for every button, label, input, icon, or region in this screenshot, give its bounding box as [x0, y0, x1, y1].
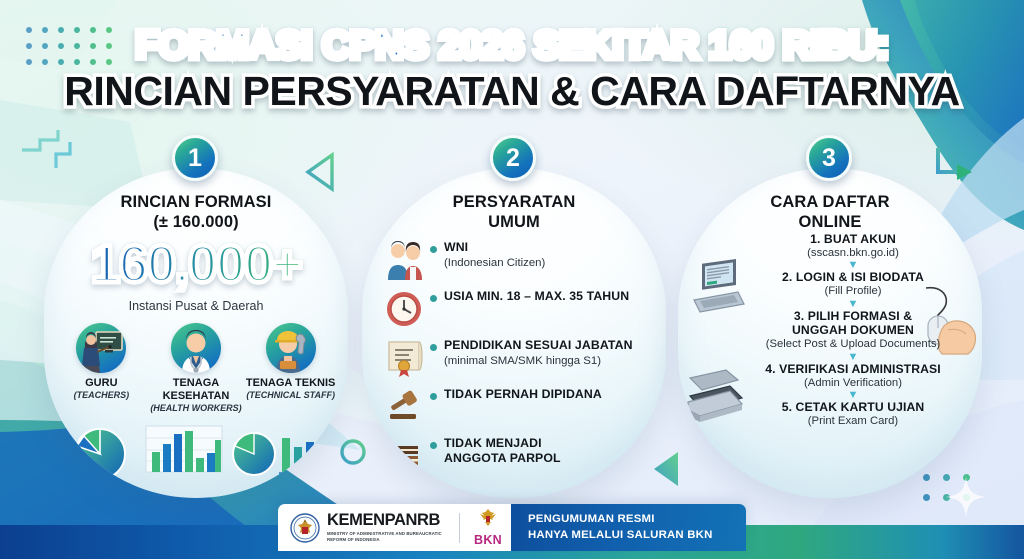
card-2-heading-line-1: PERSYARATAN — [362, 192, 666, 212]
arrow-down-icon: ▼ — [740, 391, 966, 399]
step-item: 3. PILIH FORMASI & UNGGAH DOKUMEN (Selec… — [740, 309, 966, 352]
role-name-kesehatan: TENAGA KESEHATAN — [150, 377, 242, 403]
role-name-guru: GURU — [55, 377, 147, 390]
headline-line-2: RINCIAN PERSYARATAN & CARA DAFTARNYA — [0, 70, 1024, 113]
bullet-dot — [430, 442, 437, 449]
clock-icon — [382, 289, 430, 327]
step-sub: (Admin Verification) — [740, 377, 966, 391]
requirement-item: USIA MIN. 18 – MAX. 35 TAHUN — [382, 289, 652, 327]
garuda-icon — [477, 508, 499, 528]
step-item: 1. BUAT AKUN (sscasn.bkn.go.id) — [740, 232, 966, 260]
bar-chart-icon — [146, 426, 222, 472]
requirement-text: TIDAK PERNAH DIPIDANA — [444, 387, 652, 402]
step-list: 1. BUAT AKUN (sscasn.bkn.go.id) ▼ 2. LOG… — [740, 232, 966, 429]
role-list: GURU (TEACHERS) — [54, 323, 338, 413]
ministry-block: KEMENPANRB MINISTRY OF ADMINISTRATIVE AN… — [327, 512, 445, 542]
technician-icon — [266, 323, 316, 373]
step-item: 5. CETAK KARTU UJIAN (Print Exam Card) — [740, 400, 966, 428]
step-item: 4. VERIFIKASI ADMINISTRASI (Admin Verifi… — [740, 362, 966, 390]
doctor-icon — [171, 323, 221, 373]
requirement-main: WNI — [444, 240, 652, 255]
requirement-sub: (minimal SMA/SMK hingga S1) — [444, 354, 652, 368]
bullet-dot — [430, 246, 437, 253]
bar-chart-icon — [279, 438, 317, 473]
step-sub: (Fill Profile) — [740, 285, 966, 299]
pie-chart-icon — [233, 433, 275, 475]
certificate-icon — [382, 338, 430, 376]
bullet-dot — [430, 393, 437, 400]
step-main: 4. VERIFIKASI ADMINISTRASI — [740, 362, 966, 377]
requirement-text: TIDAK MENJADI ANGGOTA PARPOL — [444, 436, 652, 466]
headline-line-1: FORMASI CPNS 2026 SEKITAR 160 RIBU: — [0, 26, 1024, 67]
requirement-item: PENDIDIKAN SESUAI JABATAN (minimal SMA/S… — [382, 338, 652, 376]
headline: FORMASI CPNS 2026 SEKITAR 160 RIBU: RINC… — [0, 26, 1024, 112]
triangle-outline-left-1 — [308, 155, 332, 189]
step-badge-2: 2 — [490, 135, 536, 181]
card-cara-daftar-online: CARA DAFTAR ONLINE — [678, 168, 982, 498]
requirement-main: TIDAK PERNAH DIPIDANA — [444, 387, 652, 402]
requirement-item: TIDAK PERNAH DIPIDANA — [382, 387, 652, 425]
step-main: 5. CETAK KARTU UJIAN — [740, 400, 966, 415]
formation-total: 160,000+ — [44, 238, 348, 291]
notice-line-1: PENGUMUMAN RESMI — [528, 512, 746, 528]
step-badge-1: 1 — [172, 135, 218, 181]
requirement-main: TIDAK MENJADI ANGGOTA PARPOL — [444, 436, 652, 466]
bkn-label: BKN — [474, 534, 502, 547]
requirement-text: USIA MIN. 18 – MAX. 35 TAHUN — [444, 289, 652, 304]
arrow-down-icon: ▼ — [740, 300, 966, 308]
arrow-down-icon: ▼ — [740, 353, 966, 361]
role-english-guru: (TEACHERS) — [55, 390, 147, 401]
footer-logo-bar: KEMENPANRB MINISTRY OF ADMINISTRATIVE AN… — [278, 504, 746, 551]
ministry-name: KEMENPANRB — [327, 512, 445, 529]
bullet-dot — [430, 344, 437, 351]
infographic-canvas: FORMASI CPNS 2026 SEKITAR 160 RIBU: RINC… — [0, 0, 1024, 559]
card-1-heading: RINCIAN FORMASI (± 160.000) — [44, 192, 348, 232]
card-3-heading-line-1: CARA DAFTAR — [678, 192, 982, 212]
pie-chart-icon — [75, 429, 125, 479]
role-item-tenaga-kesehatan: TENAGA KESEHATAN (HEALTH WORKERS) — [150, 323, 242, 413]
step-main: 2. LOGIN & ISI BIODATA — [740, 270, 966, 285]
step-sub: (Select Post & Upload Documents) — [740, 338, 966, 352]
step-main: 3. PILIH FORMASI & UNGGAH DOKUMEN — [740, 309, 966, 338]
card-rincian-formasi: RINCIAN FORMASI (± 160.000) 160,000+ Ins… — [44, 168, 348, 498]
gavel-icon — [382, 387, 430, 425]
role-item-tenaga-teknis: TENAGA TEKNIS (TECHNICAL STAFF) — [245, 323, 337, 413]
role-name-kesehatan-text: TENAGA KESEHATAN — [163, 377, 230, 402]
bullet-dot — [430, 295, 437, 302]
card-3-heading-line-2: ONLINE — [678, 212, 982, 232]
teacher-icon — [76, 323, 126, 373]
ministry-subtitle: MINISTRY OF ADMINISTRATIVE AND BUREAUCRA… — [327, 531, 445, 543]
bkn-block: BKN — [474, 508, 502, 547]
card-3-heading: CARA DAFTAR ONLINE — [678, 192, 982, 232]
requirement-sub: (Indonesian Citizen) — [444, 256, 652, 270]
step-sub: (Print Exam Card) — [740, 415, 966, 429]
requirement-main: PENDIDIKAN SESUAI JABATAN — [444, 338, 652, 353]
role-name-teknis: TENAGA TEKNIS — [245, 377, 337, 390]
id-card-icon: KARTU UJIAN — [684, 468, 756, 498]
card-1-heading-line-1: RINCIAN FORMASI — [44, 192, 348, 212]
notice-line-2: HANYA MELALUI SALURAN BKN — [528, 528, 746, 544]
card-persyaratan-umum: PERSYARATAN UMUM — [362, 168, 666, 498]
kemenpanrb-seal-icon — [290, 513, 320, 543]
footer-notice: PENGUMUMAN RESMI HANYA MELALUI SALURAN B… — [511, 504, 746, 551]
card-2-heading: PERSYARATAN UMUM — [362, 192, 666, 232]
requirement-text: PENDIDIKAN SESUAI JABATAN (minimal SMA/S… — [444, 338, 652, 368]
requirement-list: WNI (Indonesian Citizen) USIA MIN — [382, 240, 652, 485]
step-item: 2. LOGIN & ISI BIODATA (Fill Profile) — [740, 270, 966, 298]
footer-left: KEMENPANRB MINISTRY OF ADMINISTRATIVE AN… — [278, 504, 511, 551]
step-badge-3: 3 — [806, 135, 852, 181]
sparkle-icon — [946, 477, 986, 517]
step-sub: (sscasn.bkn.go.id) — [740, 247, 966, 261]
mini-charts — [68, 420, 324, 482]
step-main: 1. BUAT AKUN — [740, 232, 966, 247]
role-item-guru: GURU (TEACHERS) — [55, 323, 147, 413]
card-1-heading-line-2: (± 160.000) — [44, 212, 348, 232]
requirement-main: USIA MIN. 18 – MAX. 35 TAHUN — [444, 289, 652, 304]
arrow-down-icon: ▼ — [740, 261, 966, 269]
card-2-heading-line-2: UMUM — [362, 212, 666, 232]
requirement-item: WNI (Indonesian Citizen) — [382, 240, 652, 278]
role-english-teknis: (TECHNICAL STAFF) — [245, 390, 337, 401]
triangle-solid-bottom — [654, 452, 678, 486]
role-english-kesehatan: (HEALTH WORKERS) — [150, 403, 242, 414]
divider — [459, 513, 460, 543]
requirement-text: WNI (Indonesian Citizen) — [444, 240, 652, 270]
requirement-item: TIDAK MENJADI ANGGOTA PARPOL — [382, 436, 652, 474]
formation-scope: Instansi Pusat & Daerah — [44, 299, 348, 313]
couple-icon — [382, 240, 430, 278]
books-icon — [382, 436, 430, 474]
